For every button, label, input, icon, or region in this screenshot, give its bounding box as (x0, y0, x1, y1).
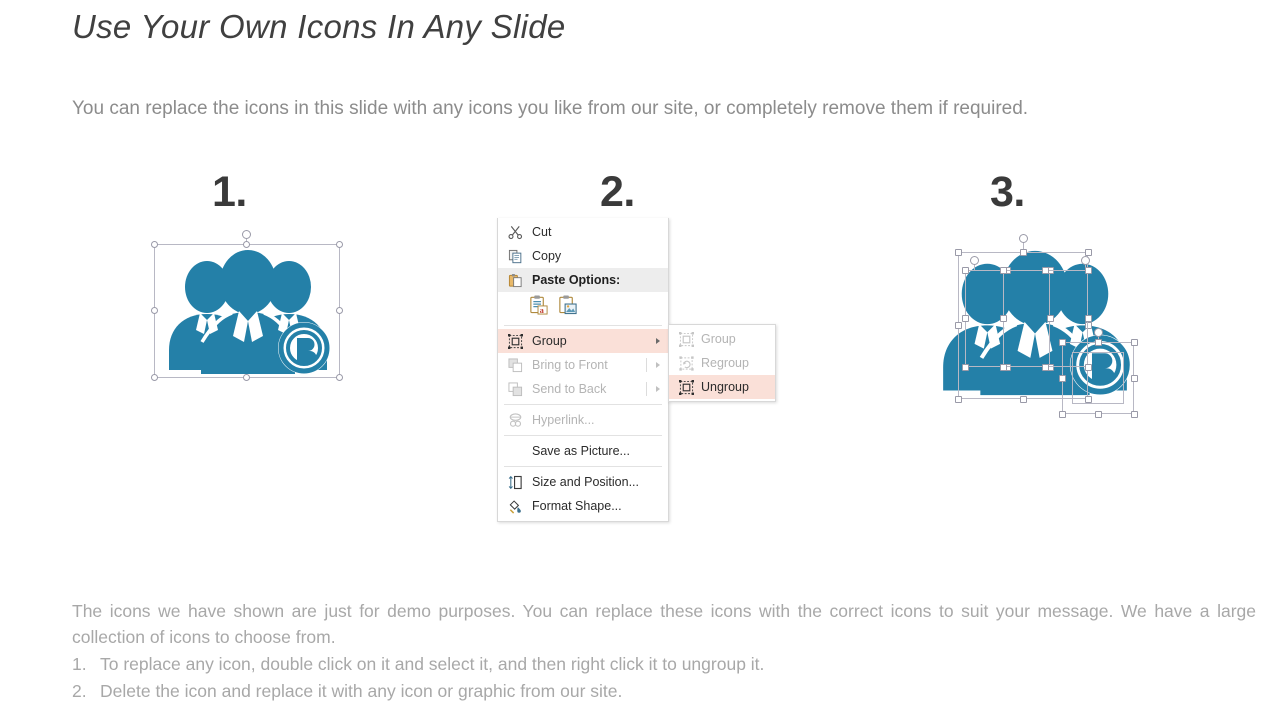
selection-handle-ne[interactable] (336, 241, 343, 248)
footer-list-number: 2. (72, 678, 100, 704)
svg-text:a: a (540, 306, 544, 315)
submenu-item-label: Regroup (701, 356, 749, 370)
selection-handle[interactable] (1059, 339, 1066, 346)
size-position-icon (506, 473, 524, 491)
selection-handle[interactable] (1000, 267, 1007, 274)
menu-item-label: Paste Options: (532, 273, 620, 287)
step-1-illustration (150, 230, 350, 390)
bring-to-front-icon (506, 356, 524, 374)
intro-paragraph: You can replace the icons in this slide … (72, 94, 1187, 124)
menu-divider-pipe (646, 382, 647, 396)
menu-item-label: Group (532, 334, 567, 348)
selection-handle-e[interactable] (336, 307, 343, 314)
step-2-illustration: Cut Copy Paste Options: (497, 218, 787, 508)
selection-handle[interactable] (1131, 375, 1138, 382)
menu-item-copy[interactable]: Copy (498, 244, 668, 268)
menu-item-label: Format Shape... (532, 499, 622, 513)
step-number-3: 3. (990, 168, 1025, 217)
b-badge-icon (278, 322, 330, 374)
rotation-handle[interactable] (242, 230, 251, 239)
submenu-item-label: Group (701, 332, 736, 346)
selection-handle-s[interactable] (243, 374, 250, 381)
selection-handle-w[interactable] (151, 307, 158, 314)
context-menu[interactable]: Cut Copy Paste Options: (497, 218, 669, 522)
footer-list-item: 2. Delete the icon and replace it with a… (72, 678, 1256, 704)
menu-item-send-to-back[interactable]: Send to Back (498, 377, 668, 401)
chevron-right-icon (656, 386, 660, 392)
copy-icon (506, 247, 524, 265)
scissors-icon (506, 223, 524, 241)
selection-handle[interactable] (1095, 339, 1102, 346)
step-number-1: 1. (212, 168, 247, 217)
group-icon (506, 332, 524, 350)
group-icon (677, 330, 695, 348)
selection-frame-badge-inner[interactable] (1072, 352, 1124, 404)
submenu-item-group[interactable]: Group (669, 327, 775, 351)
selection-handle-nw[interactable] (151, 241, 158, 248)
picture-paste-icon[interactable] (557, 294, 578, 320)
menu-separator (504, 466, 662, 467)
selection-handle[interactable] (1000, 364, 1007, 371)
menu-separator (504, 404, 662, 405)
rotation-handle[interactable] (1081, 256, 1090, 265)
selection-handle[interactable] (955, 396, 962, 403)
menu-separator (504, 325, 662, 326)
menu-item-cut[interactable]: Cut (498, 220, 668, 244)
menu-item-label: Hyperlink... (532, 413, 595, 427)
footer-list-text: To replace any icon, double click on it … (100, 651, 1256, 677)
selection-handle[interactable] (1131, 339, 1138, 346)
paste-icon (506, 271, 524, 289)
selection-handle-sw[interactable] (151, 374, 158, 381)
selection-handle[interactable] (1000, 315, 1007, 322)
menu-item-save-as-picture[interactable]: Save as Picture... (498, 439, 668, 463)
selection-handle-n[interactable] (243, 241, 250, 248)
menu-item-label: Size and Position... (532, 475, 639, 489)
chevron-right-icon (656, 338, 660, 344)
business-people-group-icon (162, 250, 334, 374)
step-3-illustration (925, 230, 1155, 415)
rotation-handle[interactable] (1019, 234, 1028, 243)
selection-handle[interactable] (1085, 249, 1092, 256)
regroup-icon (677, 354, 695, 372)
menu-separator (504, 435, 662, 436)
submenu-item-label: Ungroup (701, 380, 749, 394)
rotation-handle[interactable] (970, 256, 979, 265)
chevron-right-icon (656, 362, 660, 368)
menu-item-label: Cut (532, 225, 551, 239)
format-shape-icon (506, 497, 524, 515)
menu-item-hyperlink[interactable]: Hyperlink... (498, 408, 668, 432)
footer-paragraph: The icons we have shown are just for dem… (72, 598, 1256, 650)
selection-handle[interactable] (1042, 267, 1049, 274)
hyperlink-icon (506, 411, 524, 429)
paste-options-row[interactable]: a (498, 292, 668, 322)
selection-handle[interactable] (1059, 411, 1066, 418)
selection-handle[interactable] (1095, 411, 1102, 418)
selection-handle[interactable] (962, 267, 969, 274)
keep-text-only-paste-icon[interactable]: a (528, 294, 549, 320)
selection-handle[interactable] (962, 315, 969, 322)
step-number-2: 2. (600, 168, 635, 217)
submenu-item-regroup[interactable]: Regroup (669, 351, 775, 375)
page-title: Use Your Own Icons In Any Slide (72, 8, 566, 46)
footer-list-item: 1. To replace any icon, double click on … (72, 651, 1256, 677)
footer-text-block: The icons we have shown are just for dem… (72, 598, 1256, 704)
menu-item-format-shape[interactable]: Format Shape... (498, 494, 668, 518)
selection-handle[interactable] (1020, 249, 1027, 256)
selection-handle[interactable] (962, 364, 969, 371)
menu-item-label: Copy (532, 249, 561, 263)
selection-handle[interactable] (1131, 411, 1138, 418)
footer-list-text: Delete the icon and replace it with any … (100, 678, 1256, 704)
selection-handle[interactable] (955, 249, 962, 256)
group-submenu[interactable]: Group Regroup (668, 324, 776, 402)
selection-handle-se[interactable] (336, 374, 343, 381)
menu-item-bring-to-front[interactable]: Bring to Front (498, 353, 668, 377)
ungroup-icon (677, 378, 695, 396)
selection-handle[interactable] (1085, 267, 1092, 274)
menu-item-group[interactable]: Group (498, 329, 668, 353)
selection-handle[interactable] (955, 322, 962, 329)
menu-item-label: Send to Back (532, 382, 606, 396)
footer-list-number: 1. (72, 651, 100, 677)
menu-item-size-and-position[interactable]: Size and Position... (498, 470, 668, 494)
send-to-back-icon (506, 380, 524, 398)
submenu-item-ungroup[interactable]: Ungroup (669, 375, 775, 399)
selection-handle[interactable] (1059, 375, 1066, 382)
menu-divider-pipe (646, 358, 647, 372)
selection-handle[interactable] (1085, 315, 1092, 322)
selection-handle[interactable] (1042, 364, 1049, 371)
rotation-handle[interactable] (1094, 328, 1103, 337)
menu-item-label: Save as Picture... (532, 444, 630, 458)
menu-item-paste-options: Paste Options: (498, 268, 668, 292)
menu-item-label: Bring to Front (532, 358, 608, 372)
selection-handle[interactable] (1020, 396, 1027, 403)
